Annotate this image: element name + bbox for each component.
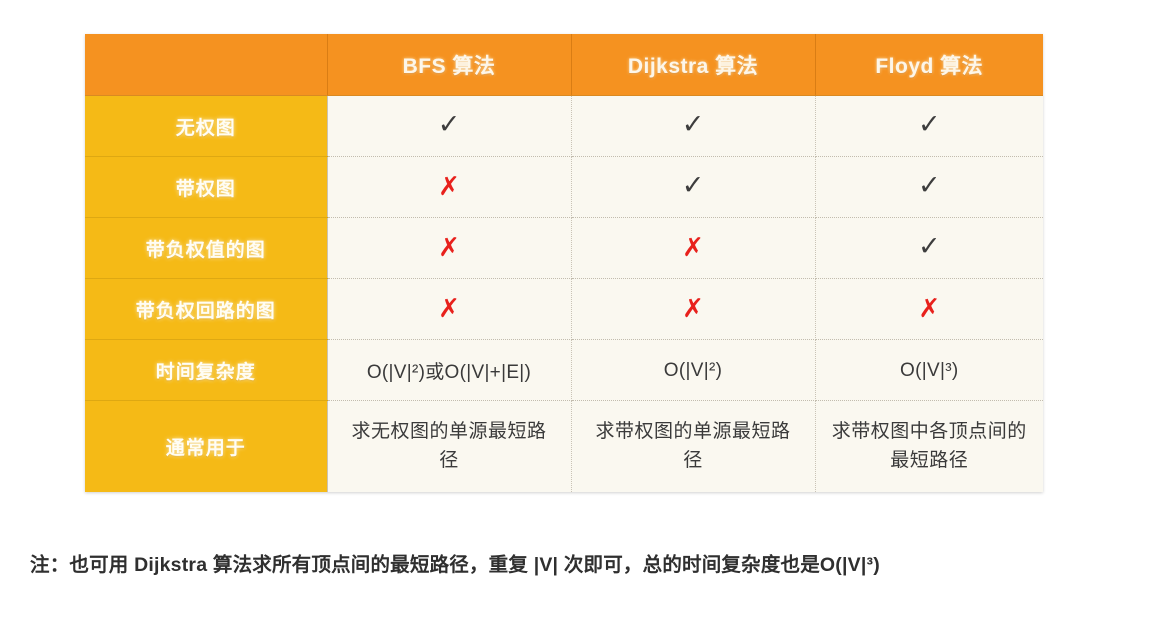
algorithm-comparison-table: BFS 算法 Dijkstra 算法 Floyd 算法 无权图 ✓ ✓ ✓ 带权… xyxy=(85,34,1043,492)
table-row: 时间复杂度 O(|V|²)或O(|V|+|E|) O(|V|²) O(|V|³) xyxy=(85,340,1043,401)
table-corner-cell xyxy=(85,34,327,96)
row-label-typical-use: 通常用于 xyxy=(85,401,327,493)
check-icon: ✓ xyxy=(438,111,461,138)
column-header-floyd: Floyd 算法 xyxy=(815,34,1043,96)
table-header-row: BFS 算法 Dijkstra 算法 Floyd 算法 xyxy=(85,34,1043,96)
cell-unweighted-floyd: ✓ xyxy=(815,96,1043,157)
cross-icon: ✗ xyxy=(682,295,704,321)
cell-unweighted-dijkstra: ✓ xyxy=(571,96,815,157)
check-icon: ✓ xyxy=(918,111,941,138)
cell-weighted-floyd: ✓ xyxy=(815,157,1043,218)
table-row: 带负权值的图 ✗ ✗ ✓ xyxy=(85,218,1043,279)
cross-icon: ✗ xyxy=(918,295,940,321)
cross-icon: ✗ xyxy=(438,173,460,199)
cell-complexity-dijkstra: O(|V|²) xyxy=(571,340,815,401)
column-header-bfs: BFS 算法 xyxy=(327,34,571,96)
usage-text: 求带权图的单源最短路径 xyxy=(572,418,815,475)
cross-icon: ✗ xyxy=(438,295,460,321)
row-label-negative-weight-graph: 带负权值的图 xyxy=(85,218,327,279)
cell-usage-bfs: 求无权图的单源最短路径 xyxy=(327,401,571,493)
check-icon: ✓ xyxy=(918,233,941,260)
usage-text: 求带权图中各顶点间的最短路径 xyxy=(816,418,1044,475)
table-row: 带负权回路的图 ✗ ✗ ✗ xyxy=(85,279,1043,340)
cell-complexity-bfs: O(|V|²)或O(|V|+|E|) xyxy=(327,340,571,401)
cell-negative-weight-bfs: ✗ xyxy=(327,218,571,279)
table-row: 带权图 ✗ ✓ ✓ xyxy=(85,157,1043,218)
cell-usage-dijkstra: 求带权图的单源最短路径 xyxy=(571,401,815,493)
row-label-time-complexity: 时间复杂度 xyxy=(85,340,327,401)
cell-negative-weight-floyd: ✓ xyxy=(815,218,1043,279)
cell-negative-cycle-bfs: ✗ xyxy=(327,279,571,340)
footnote: 注：也可用 Dijkstra 算法求所有顶点间的最短路径，重复 |V| 次即可，… xyxy=(30,548,1150,577)
table-row: 无权图 ✓ ✓ ✓ xyxy=(85,96,1043,157)
complexity-text: O(|V|³) xyxy=(900,360,958,381)
comparison-table-container: BFS 算法 Dijkstra 算法 Floyd 算法 无权图 ✓ ✓ ✓ 带权… xyxy=(85,34,1043,487)
cell-negative-cycle-floyd: ✗ xyxy=(815,279,1043,340)
cell-negative-cycle-dijkstra: ✗ xyxy=(571,279,815,340)
check-icon: ✓ xyxy=(918,172,941,199)
table-header: BFS 算法 Dijkstra 算法 Floyd 算法 xyxy=(85,34,1043,96)
cell-unweighted-bfs: ✓ xyxy=(327,96,571,157)
check-icon: ✓ xyxy=(682,111,705,138)
row-label-weighted-graph: 带权图 xyxy=(85,157,327,218)
row-label-negative-cycle-graph: 带负权回路的图 xyxy=(85,279,327,340)
complexity-text: O(|V|²)或O(|V|+|E|) xyxy=(367,362,531,383)
cell-complexity-floyd: O(|V|³) xyxy=(815,340,1043,401)
table-row: 通常用于 求无权图的单源最短路径 求带权图的单源最短路径 求带权图中各顶点间的最… xyxy=(85,401,1043,493)
cross-icon: ✗ xyxy=(682,234,704,260)
cell-weighted-dijkstra: ✓ xyxy=(571,157,815,218)
complexity-text: O(|V|²) xyxy=(664,360,722,381)
cell-usage-floyd: 求带权图中各顶点间的最短路径 xyxy=(815,401,1043,493)
cell-negative-weight-dijkstra: ✗ xyxy=(571,218,815,279)
table-body: 无权图 ✓ ✓ ✓ 带权图 ✗ ✓ ✓ 带负权值的图 ✗ ✗ ✓ 带负权回路的图… xyxy=(85,96,1043,493)
cross-icon: ✗ xyxy=(438,234,460,260)
cell-weighted-bfs: ✗ xyxy=(327,157,571,218)
check-icon: ✓ xyxy=(682,172,705,199)
usage-text: 求无权图的单源最短路径 xyxy=(328,418,571,475)
row-label-unweighted-graph: 无权图 xyxy=(85,96,327,157)
column-header-dijkstra: Dijkstra 算法 xyxy=(571,34,815,96)
